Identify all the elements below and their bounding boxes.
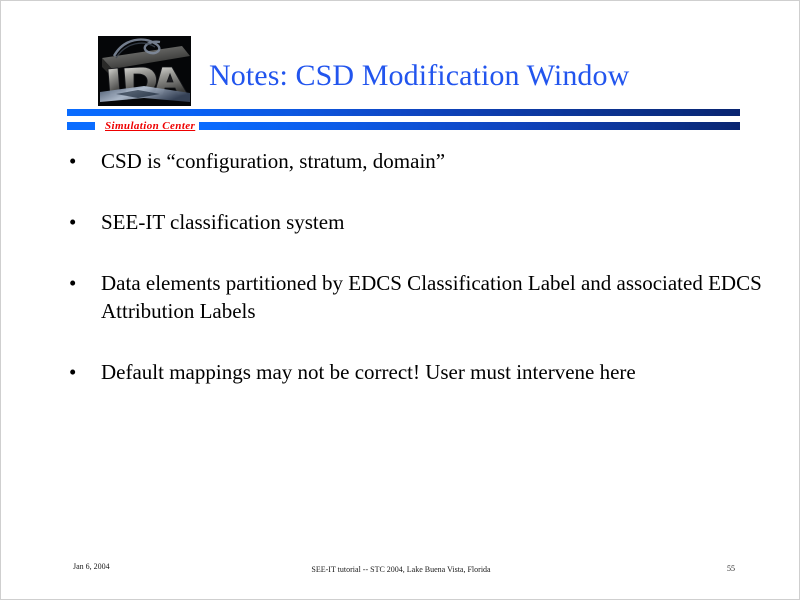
bullet-marker-icon: • <box>69 147 76 175</box>
bullet-marker-icon: • <box>69 358 76 386</box>
bullet-item: • Data elements partitioned by EDCS Clas… <box>63 269 763 325</box>
bullet-text: SEE-IT classification system <box>101 208 763 236</box>
slide-body: • CSD is “configuration, stratum, domain… <box>63 147 763 419</box>
bullet-marker-icon: • <box>69 208 76 236</box>
bullet-item: • Default mappings may not be correct! U… <box>63 358 763 386</box>
bullet-text: Data elements partitioned by EDCS Classi… <box>101 269 763 325</box>
header-divider-bar-top <box>67 109 740 116</box>
slide-footer: Jan 6, 2004 SEE-IT tutorial -- STC 2004,… <box>1 559 800 581</box>
bullet-text: Default mappings may not be correct! Use… <box>101 358 763 386</box>
footer-center-text: SEE-IT tutorial -- STC 2004, Lake Buena … <box>1 565 800 574</box>
bullet-marker-icon: • <box>69 269 76 297</box>
presentation-slide: Notes: CSD Modification Window Simulatio… <box>0 0 800 600</box>
header-divider-bar-bottom: Simulation Center <box>67 122 740 130</box>
bullet-item: • CSD is “configuration, stratum, domain… <box>63 147 763 175</box>
ida-logo-icon <box>98 36 191 106</box>
brand-label: Simulation Center <box>101 121 199 132</box>
bullet-item: • SEE-IT classification system <box>63 208 763 236</box>
ida-logo <box>98 36 191 106</box>
footer-page-number: 55 <box>727 564 767 573</box>
divider-bar-right <box>199 122 740 130</box>
bullet-text: CSD is “configuration, stratum, domain” <box>101 147 763 175</box>
page-title: Notes: CSD Modification Window <box>209 58 769 94</box>
divider-stub-left <box>67 122 95 130</box>
